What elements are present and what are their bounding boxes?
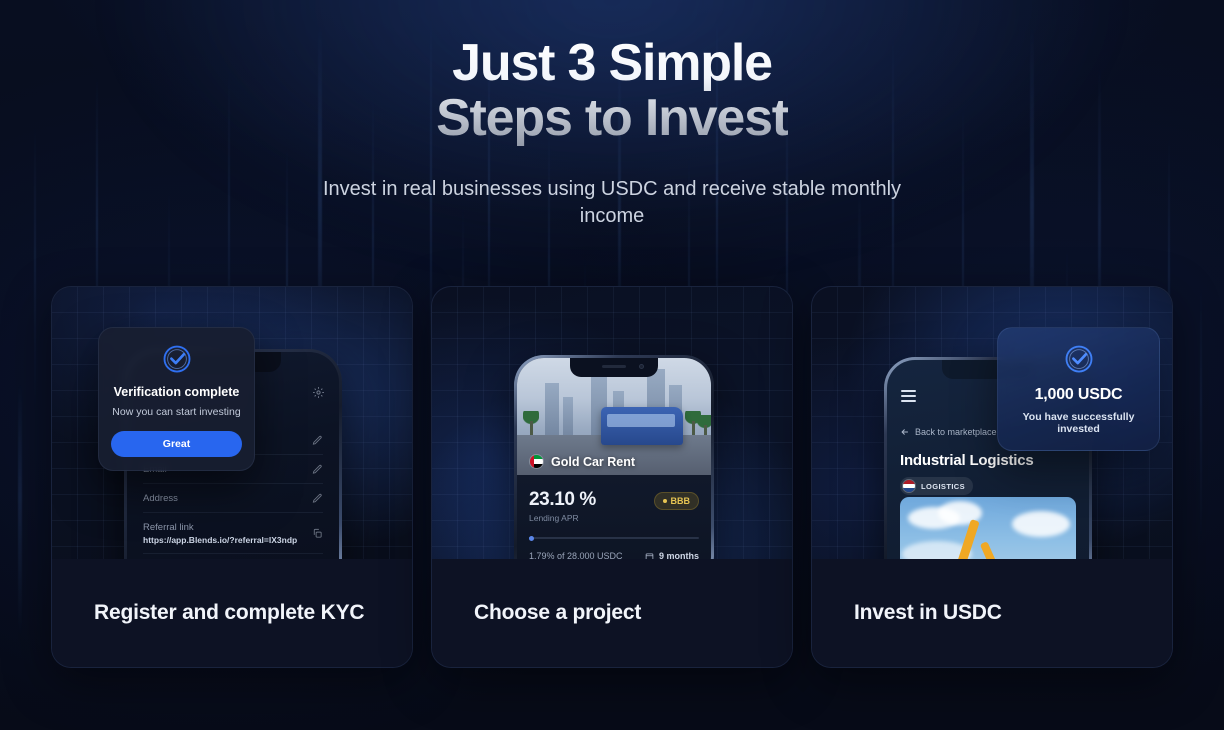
form-field-label: Address [143, 493, 178, 504]
project-name-badge: Gold Car Rent [529, 454, 635, 469]
great-button[interactable]: Great [111, 431, 242, 457]
step-card-2-caption: Choose a project [432, 559, 792, 667]
arrow-left-icon [900, 427, 910, 437]
pencil-icon[interactable] [312, 464, 323, 475]
tag-label: LOGISTICS [921, 482, 965, 491]
project-category-tag: LOGISTICS [900, 477, 973, 495]
popup-title: Verification complete [111, 385, 242, 399]
badge-dot-icon [663, 499, 667, 503]
page-title-line-1: Just 3 Simple [436, 36, 788, 91]
referral-link-value: https://app.Blends.io/?referral=lX3ndp [143, 535, 297, 545]
popup-description: Now you can start investing [111, 406, 242, 418]
bus-vehicle [601, 407, 683, 445]
pencil-icon[interactable] [312, 493, 323, 504]
card-caption-text: Register and complete KYC [94, 601, 364, 625]
back-link-text: Back to marketplace [915, 427, 997, 437]
duration-value: 9 months [659, 551, 699, 559]
step-card-3-media: Back to marketplace Industrial Logistics… [812, 287, 1172, 559]
cloud-shape [1012, 511, 1070, 537]
step-card-2-media: Gold Car Rent 23.10 % Lending APR [432, 287, 792, 559]
phone-frame: Gold Car Rent 23.10 % Lending APR [514, 355, 714, 559]
speaker-grill [602, 365, 626, 368]
form-field-label: Referral link [143, 522, 297, 533]
progress-knob [529, 536, 534, 541]
steps-cards-row: Full name Email [0, 286, 1224, 668]
form-field-referral-link[interactable]: Referral link https://app.Blends.io/?ref… [143, 513, 323, 554]
rating-badge-text: BBB [671, 496, 691, 506]
uae-flag-icon [529, 454, 544, 469]
step-card-1-media: Full name Email [52, 287, 412, 559]
apr-row: 23.10 % Lending APR BBB [529, 489, 699, 523]
apr-value: 23.10 % [529, 489, 596, 511]
card-caption-text: Invest in USDC [854, 601, 1002, 625]
hamburger-menu-icon[interactable] [901, 390, 916, 405]
front-camera-icon [639, 364, 644, 369]
rating-badge: BBB [654, 492, 700, 510]
verified-check-icon [1064, 344, 1094, 374]
copy-icon[interactable] [312, 528, 323, 539]
project-photo-excavator [900, 497, 1076, 559]
page-title: Just 3 Simple Steps to Invest [436, 36, 788, 146]
funding-progress-bar [529, 537, 699, 539]
netherlands-flag-icon [902, 479, 916, 493]
phone-screen: Gold Car Rent 23.10 % Lending APR [517, 358, 711, 559]
invested-amount: 1,000 USDC [1008, 386, 1149, 404]
popup-description: You have successfully invested [1008, 411, 1149, 435]
phone-notch [570, 358, 658, 377]
apr-label: Lending APR [529, 513, 596, 523]
step-card-1-caption: Register and complete KYC [52, 559, 412, 667]
step-card-choose-project[interactable]: Gold Car Rent 23.10 % Lending APR [431, 286, 793, 668]
card-caption-text: Choose a project [474, 601, 641, 625]
hero-section: Just 3 Simple Steps to Invest Invest in … [0, 0, 1224, 229]
phone-mockup-project: Gold Car Rent 23.10 % Lending APR [514, 355, 714, 559]
verified-check-icon [162, 344, 192, 374]
calendar-icon [645, 552, 654, 560]
pencil-icon[interactable] [312, 435, 323, 446]
project-name-text: Gold Car Rent [551, 455, 635, 469]
page-title-line-2: Steps to Invest [436, 91, 788, 146]
step-card-register-kyc[interactable]: Full name Email [51, 286, 413, 668]
project-title: Industrial Logistics [900, 452, 1034, 469]
building-shape [545, 383, 559, 441]
page-subtitle: Invest in real businesses using USDC and… [312, 176, 912, 229]
gear-icon[interactable] [312, 386, 325, 399]
verification-complete-popup: Verification complete Now you can start … [98, 327, 255, 471]
step-card-3-caption: Invest in USDC [812, 559, 1172, 667]
step-card-invest-usdc[interactable]: Back to marketplace Industrial Logistics… [811, 286, 1173, 668]
project-footer-row: 1.79% of 28,000 USDC 9 months [529, 551, 699, 559]
back-to-marketplace-link[interactable]: Back to marketplace [900, 427, 997, 437]
form-field-address[interactable]: Address [143, 484, 323, 513]
project-stats-panel: 23.10 % Lending APR BBB [517, 475, 711, 559]
excavator-arm [980, 541, 1004, 559]
duration-text: 9 months [645, 551, 699, 559]
funded-amount-text: 1.79% of 28,000 USDC [529, 551, 623, 559]
investment-success-popup: 1,000 USDC You have successfully investe… [997, 327, 1160, 451]
